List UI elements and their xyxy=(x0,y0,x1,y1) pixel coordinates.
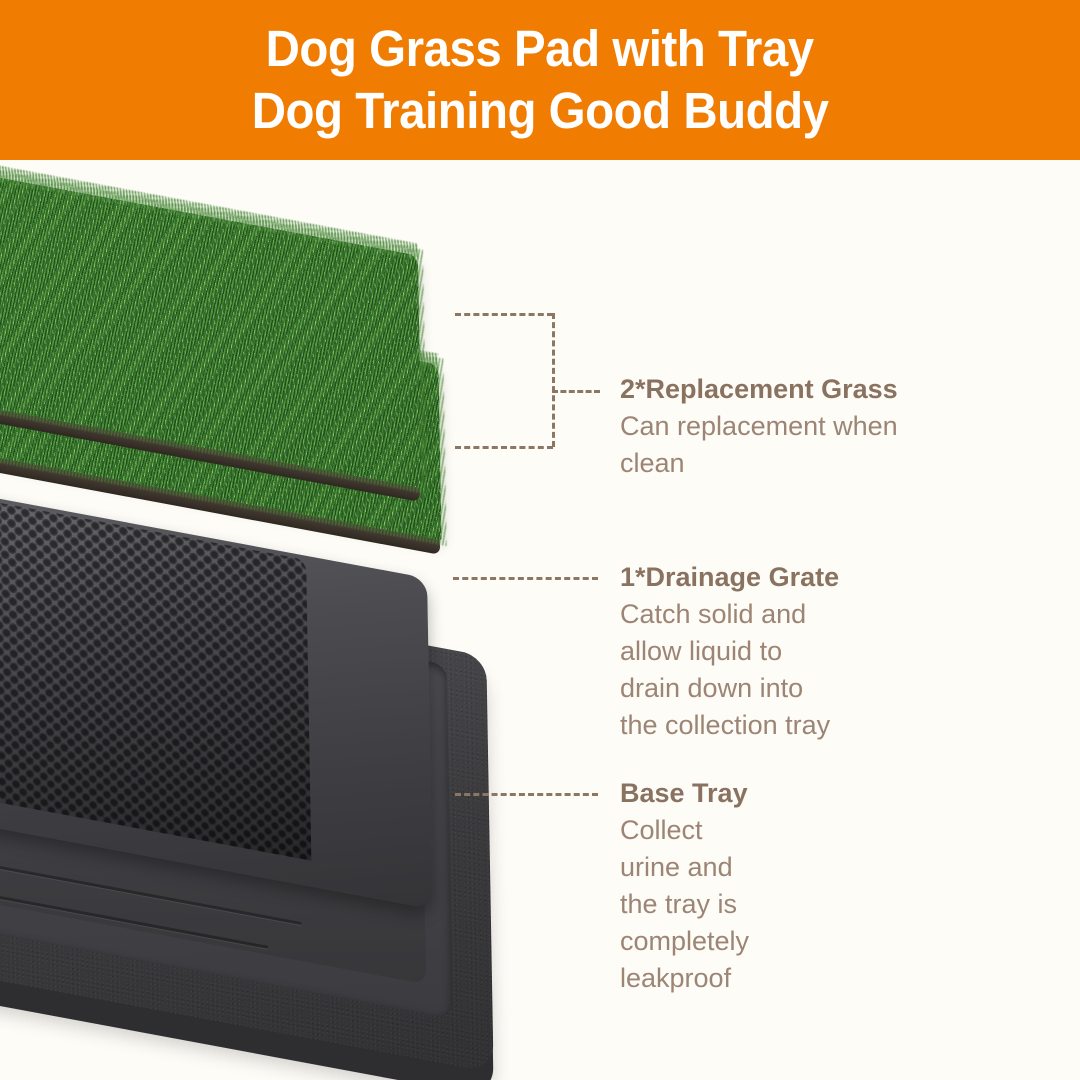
callout-title: Base Tray xyxy=(620,776,749,810)
grass-mat-top-fringe xyxy=(0,160,418,260)
callout-bracket-stub-line xyxy=(552,390,600,393)
callout-leader-line xyxy=(455,793,598,796)
product-infographic: Dog Grass Pad with Tray Dog Training Goo… xyxy=(0,0,1080,1080)
callout-text-replacement-grass: 2*Replacement Grass Can replacement when… xyxy=(620,372,898,482)
callout-title: 2*Replacement Grass xyxy=(620,372,898,406)
callout-description: Can replacement when clean xyxy=(620,408,898,482)
drainage-grate-studs xyxy=(0,485,311,860)
callout-bracket-top-line xyxy=(455,313,553,316)
callout-text-drainage-grate: 1*Drainage Grate Catch solid and allow l… xyxy=(620,560,839,744)
header-banner: Dog Grass Pad with Tray Dog Training Goo… xyxy=(0,0,1080,160)
banner-title-line-1: Dog Grass Pad with Tray xyxy=(266,18,814,80)
callout-title: 1*Drainage Grate xyxy=(620,560,839,594)
callout-description: Collect urine and the tray is completely… xyxy=(620,812,749,997)
product-photo xyxy=(0,160,620,1080)
callout-bracket-bottom-line xyxy=(455,446,553,449)
banner-title-line-2: Dog Training Good Buddy xyxy=(252,80,829,142)
callout-leader-line xyxy=(453,577,598,580)
callout-description: Catch solid and allow liquid to drain do… xyxy=(620,596,839,744)
callout-bracket-vertical-line xyxy=(552,313,555,447)
callout-text-base-tray: Base Tray Collect urine and the tray is … xyxy=(620,776,749,997)
